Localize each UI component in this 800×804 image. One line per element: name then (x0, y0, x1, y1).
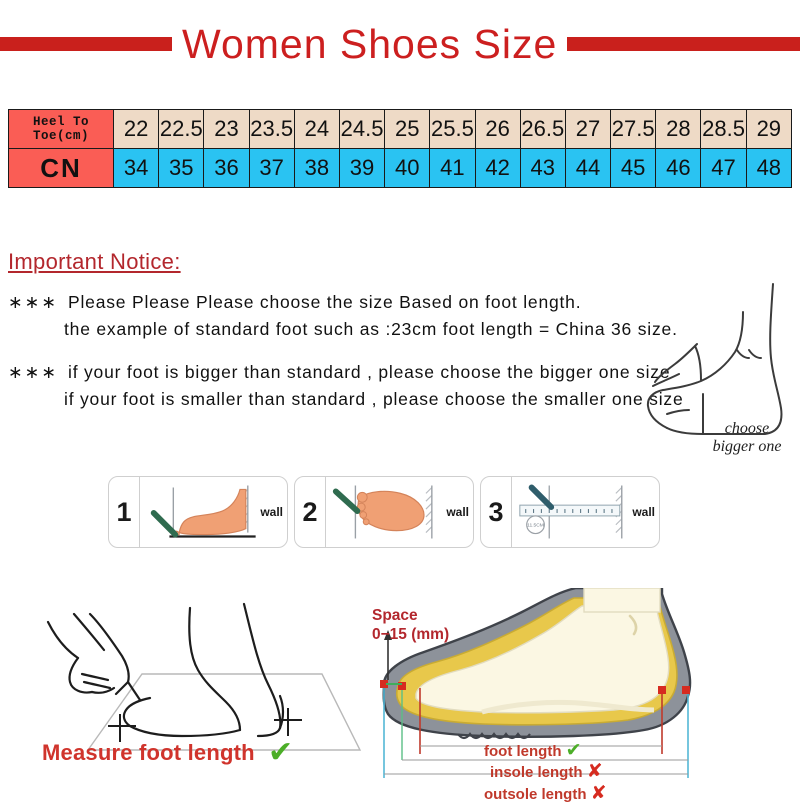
cell-cn-0: 34 (114, 149, 159, 188)
cell-cn-5: 39 (339, 149, 384, 188)
legend-row-foot-length: foot length ✔ (484, 740, 784, 761)
legend-row-insole-length: insole length ✘ (484, 761, 784, 782)
cell-cm-0: 22 (114, 110, 159, 149)
cell-cn-1: 35 (159, 149, 204, 188)
cell-cn-13: 47 (701, 149, 746, 188)
cell-cn-2: 36 (204, 149, 249, 188)
step-number-3: 3 (481, 477, 512, 547)
space-label-line-2: 0−15 (mm) (372, 626, 449, 643)
legend-label-insole-length: insole length (490, 764, 583, 781)
page-title-row: Women Shoes Size (0, 18, 800, 70)
notice-1-line-1: Please Please Please choose the size Bas… (68, 292, 581, 312)
check-icon-foot-length: ✔ (566, 740, 582, 761)
step-3-wall-label: wall (632, 505, 655, 519)
cell-cm-10: 27 (565, 110, 610, 149)
cell-cm-9: 26.5 (520, 110, 565, 149)
cross-icon-insole-length: ✘ (587, 761, 603, 782)
cell-cm-2: 23 (204, 110, 249, 149)
step-number-1: 1 (109, 477, 140, 547)
notice-stars-2: ∗∗∗ (8, 362, 58, 382)
measure-check-icon: ✔ (268, 735, 293, 770)
length-legend: foot length ✔ insole length ✘ outsole le… (484, 740, 784, 804)
cell-cm-4: 24 (294, 110, 339, 149)
foot-caption-line-2: bigger one (713, 438, 782, 455)
title-rule-right (567, 37, 800, 51)
cell-cn-11: 45 (611, 149, 656, 188)
step-number-2: 2 (295, 477, 326, 547)
cell-cn-14: 48 (746, 149, 791, 188)
cell-cm-14: 29 (746, 110, 791, 149)
svg-text:11.5CM: 11.5CM (527, 523, 544, 529)
cell-cn-12: 46 (656, 149, 701, 188)
cross-icon-outsole-length: ✘ (591, 783, 607, 804)
step-panel-3: 3 11.5CM (480, 476, 660, 548)
cell-cm-3: 23.5 (249, 110, 294, 149)
table-row-cn: CN 34 35 36 37 38 39 40 41 42 43 44 45 4… (9, 149, 792, 188)
cell-cm-12: 28 (656, 110, 701, 149)
cell-cm-8: 26 (475, 110, 520, 149)
step-2-illustration: wall (326, 477, 473, 547)
cell-cm-7: 25.5 (430, 110, 475, 149)
cell-cm-6: 25 (385, 110, 430, 149)
cell-cn-6: 40 (385, 149, 430, 188)
notice-stars-1: ∗∗∗ (8, 292, 58, 312)
space-label-line-1: Space (372, 607, 418, 624)
cell-cn-7: 41 (430, 149, 475, 188)
cell-cm-1: 22.5 (159, 110, 204, 149)
table-row-heel-to-toe: Heel To Toe(cm) 22 22.5 23 23.5 24 24.5 … (9, 110, 792, 149)
step-panel-1: 1 wall (108, 476, 288, 548)
space-annotation: Space 0−15 (mm) (372, 606, 449, 645)
step-3-illustration: 11.5CM wall (512, 477, 659, 547)
notice-2-line-1: if your foot is bigger than standard , p… (68, 362, 670, 382)
title-rule-left (0, 37, 172, 51)
cell-cm-11: 27.5 (611, 110, 656, 149)
cell-cn-3: 37 (249, 149, 294, 188)
legend-label-foot-length: foot length (484, 743, 561, 760)
cell-cn-10: 44 (565, 149, 610, 188)
row-label-cn: CN (9, 149, 114, 188)
row-label-heel-to-toe: Heel To Toe(cm) (9, 110, 114, 149)
step-panel-2: 2 wall (294, 476, 474, 548)
measure-steps: 1 wall 2 (108, 476, 660, 548)
step-1-illustration: wall (140, 477, 287, 547)
notice-title: Important Notice: (8, 249, 792, 275)
foot-illustration-caption: choose bigger one (692, 420, 800, 457)
foot-caption-line-1: choose (725, 420, 769, 437)
cell-cm-13: 28.5 (701, 110, 746, 149)
step-1-wall-label: wall (260, 505, 283, 519)
page-title: Women Shoes Size (172, 24, 567, 65)
step-2-wall-label: wall (446, 505, 469, 519)
cell-cm-5: 24.5 (339, 110, 384, 149)
cell-cn-9: 43 (520, 149, 565, 188)
cell-cn-8: 42 (475, 149, 520, 188)
measure-caption: Measure foot length (42, 740, 255, 766)
cell-cn-4: 38 (294, 149, 339, 188)
size-chart-table: Heel To Toe(cm) 22 22.5 23 23.5 24 24.5 … (8, 109, 792, 188)
legend-row-outsole-length: outsole length ✘ (484, 783, 784, 804)
